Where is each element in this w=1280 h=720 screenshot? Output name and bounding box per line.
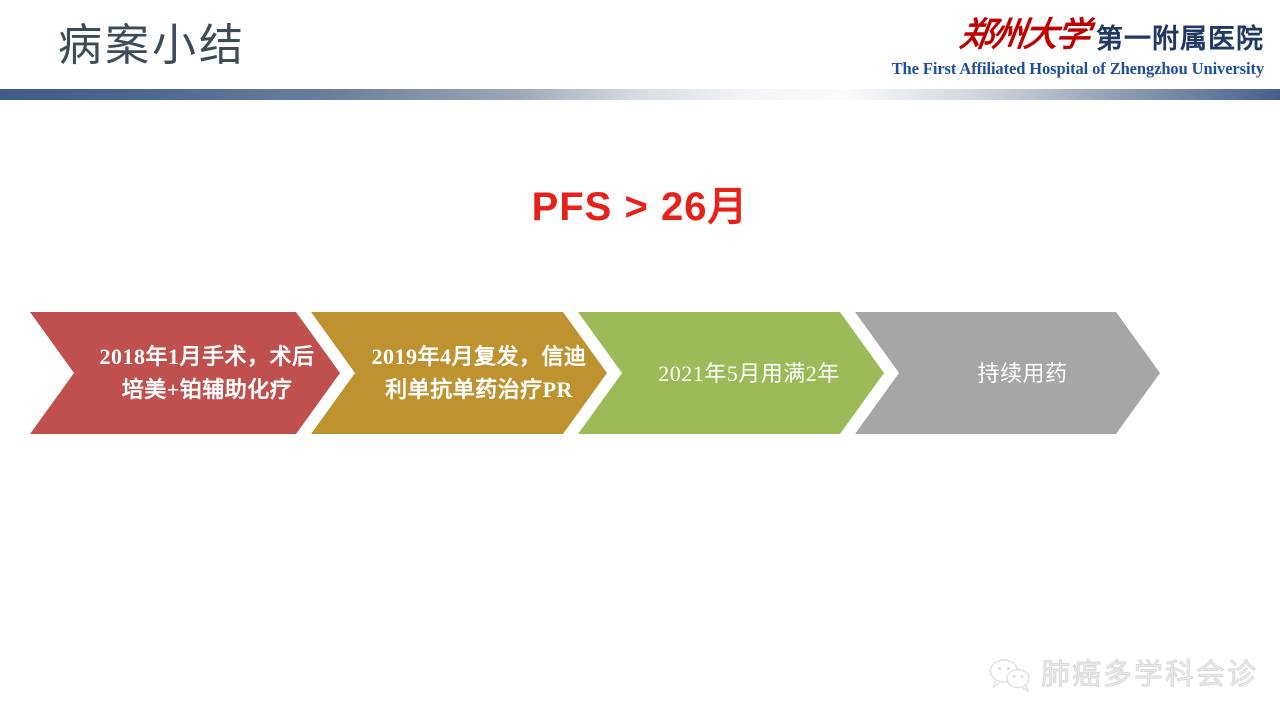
wechat-watermark: 肺癌多学科会诊 <box>989 658 1258 692</box>
timeline-chevrons: 2018年1月手术，术后培美+铂辅助化疗 2019年4月复发，信迪利单抗单药治疗… <box>0 312 1280 434</box>
university-name-cn: 郑州大学 <box>957 16 1091 56</box>
header-divider-bar <box>0 89 1280 100</box>
logo-chinese-row: 郑州大学 第一附属医院 <box>794 12 1264 56</box>
pfs-headline: PFS > 26月 <box>0 181 1280 233</box>
timeline-step-label: 持续用药 <box>877 357 1139 390</box>
hospital-name-en: The First Affiliated Hospital of Zhengzh… <box>794 59 1264 79</box>
timeline-step-surgery-adjuvant: 2018年1月手术，术后培美+铂辅助化疗 <box>30 312 340 434</box>
slide-header: 病案小结 郑州大学 第一附属医院 The First Affiliated Ho… <box>0 0 1280 104</box>
slide-root: 病案小结 郑州大学 第一附属医院 The First Affiliated Ho… <box>0 0 1280 720</box>
page-title: 病案小结 <box>58 18 246 74</box>
timeline-step-label: 2021年5月用满2年 <box>600 357 862 390</box>
hospital-name-cn: 第一附属医院 <box>1096 22 1264 56</box>
timeline-step-two-years: 2021年5月用满2年 <box>578 312 884 434</box>
hospital-logo: 郑州大学 第一附属医院 The First Affiliated Hospita… <box>794 12 1264 79</box>
timeline-step-ongoing: 持续用药 <box>855 312 1160 434</box>
wechat-icon <box>989 658 1031 692</box>
timeline-step-relapse-sintilimab: 2019年4月复发，信迪利单抗单药治疗PR <box>311 312 607 434</box>
watermark-label: 肺癌多学科会诊 <box>1041 658 1258 692</box>
timeline-step-label: 2018年1月手术，术后培美+铂辅助化疗 <box>51 340 319 406</box>
timeline-step-label: 2019年4月复发，信迪利单抗单药治疗PR <box>330 340 588 406</box>
